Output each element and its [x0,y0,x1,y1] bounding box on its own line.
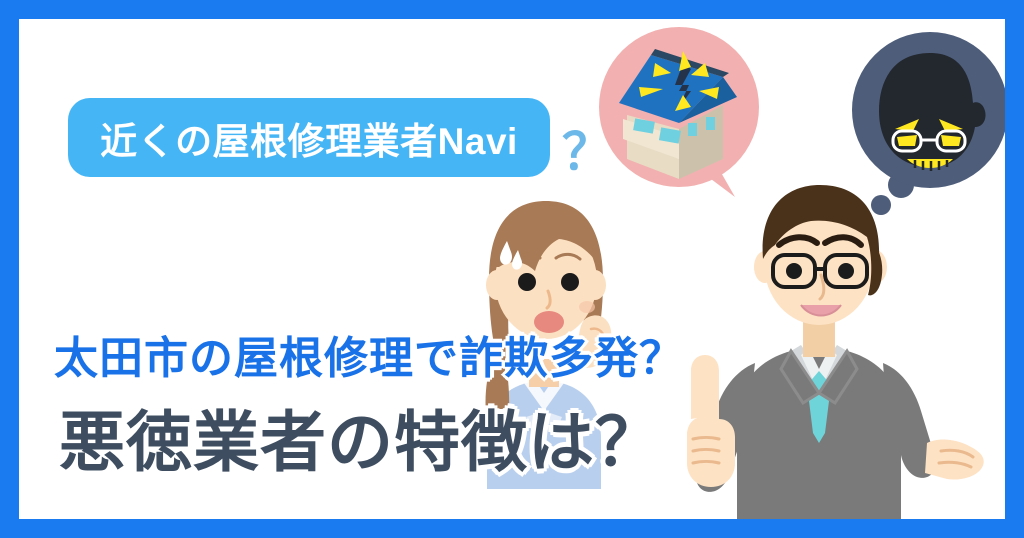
villain-thought-bubble [852,32,1005,215]
bubbles-illustration-layer [19,19,1005,519]
poster-canvas: 近くの屋根修理業者Navi ？ 太田市の屋根修理で詐欺多発？ 悪徳業者の特徴は？ [0,0,1024,538]
house-speech-bubble [599,27,759,197]
poster-inner-panel: 近くの屋根修理業者Navi ？ 太田市の屋根修理で詐欺多発？ 悪徳業者の特徴は？ [19,19,1005,519]
